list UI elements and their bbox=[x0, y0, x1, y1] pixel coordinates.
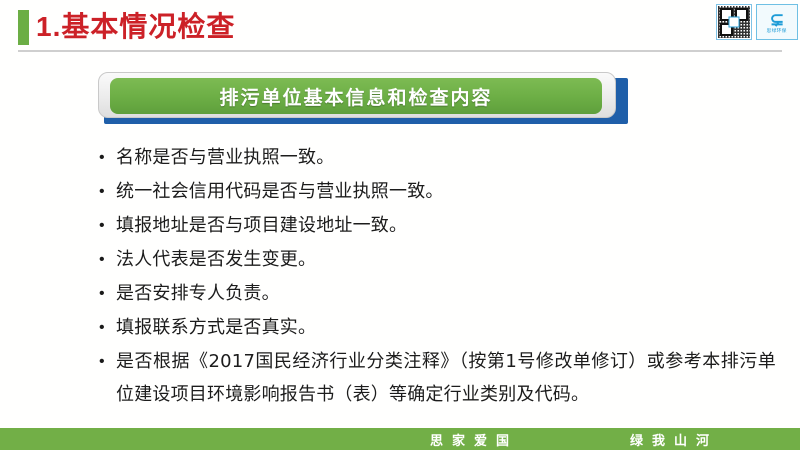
footer-slogan-right: 绿我山河 bbox=[630, 430, 718, 449]
brand-logo-label: 思绿环保 bbox=[767, 28, 787, 35]
list-item-label: 法人代表是否发生变更。 bbox=[116, 243, 776, 277]
list-item: • 填报地址是否与项目建设地址一致。 bbox=[96, 209, 776, 243]
banner-title: 排污单位基本信息和检查内容 bbox=[219, 83, 492, 110]
slide: 1.基本情况检查 ⊊ 思绿环保 排污单位基本信息和检查内容 • 名称是否与营业执… bbox=[0, 0, 800, 450]
title-accent-bar bbox=[18, 10, 29, 45]
banner-inner-panel: 排污单位基本信息和检查内容 bbox=[98, 72, 616, 118]
list-item: • 法人代表是否发生变更。 bbox=[96, 243, 776, 277]
title-divider bbox=[18, 50, 782, 52]
bullet-icon: • bbox=[96, 311, 116, 345]
list-item: • 填报联系方式是否真实。 bbox=[96, 311, 776, 345]
list-item: • 名称是否与营业执照一致。 bbox=[96, 141, 776, 175]
list-item-label: 是否根据《2017国民经济行业分类注释》（按第1号修改单修订）或参考本排污单位建… bbox=[116, 345, 776, 411]
qr-code-icon[interactable] bbox=[716, 4, 752, 40]
bullet-icon: • bbox=[96, 243, 116, 277]
bullet-icon: • bbox=[96, 209, 116, 243]
list-item-label: 统一社会信用代码是否与营业执照一致。 bbox=[116, 175, 776, 209]
bullet-icon: • bbox=[96, 175, 116, 209]
section-banner: 排污单位基本信息和检查内容 bbox=[98, 72, 628, 124]
bullet-icon: • bbox=[96, 141, 116, 175]
list-item-label: 填报地址是否与项目建设地址一致。 bbox=[116, 209, 776, 243]
list-item-label: 名称是否与营业执照一致。 bbox=[116, 141, 776, 175]
list-item-label: 是否安排专人负责。 bbox=[116, 277, 776, 311]
bullet-icon: • bbox=[96, 345, 116, 379]
page-title: 1.基本情况检查 bbox=[36, 7, 235, 47]
brand-mark-icon: ⊊ bbox=[770, 11, 784, 28]
slide-header: 1.基本情况检查 bbox=[0, 0, 800, 56]
list-item: • 是否安排专人负责。 bbox=[96, 277, 776, 311]
logo-group: ⊊ 思绿环保 bbox=[716, 4, 798, 40]
list-item: • 统一社会信用代码是否与营业执照一致。 bbox=[96, 175, 776, 209]
bullet-icon: • bbox=[96, 277, 116, 311]
brand-logo[interactable]: ⊊ 思绿环保 bbox=[756, 4, 798, 40]
slide-footer: 思家爱国 绿我山河 bbox=[0, 428, 800, 450]
footer-slogan-left: 思家爱国 bbox=[430, 430, 518, 449]
list-item-label: 填报联系方式是否真实。 bbox=[116, 311, 776, 345]
qr-center-logo bbox=[729, 17, 740, 28]
banner-pill: 排污单位基本信息和检查内容 bbox=[110, 78, 602, 114]
list-item: • 是否根据《2017国民经济行业分类注释》（按第1号修改单修订）或参考本排污单… bbox=[96, 345, 776, 411]
checklist: • 名称是否与营业执照一致。 • 统一社会信用代码是否与营业执照一致。 • 填报… bbox=[96, 141, 776, 411]
